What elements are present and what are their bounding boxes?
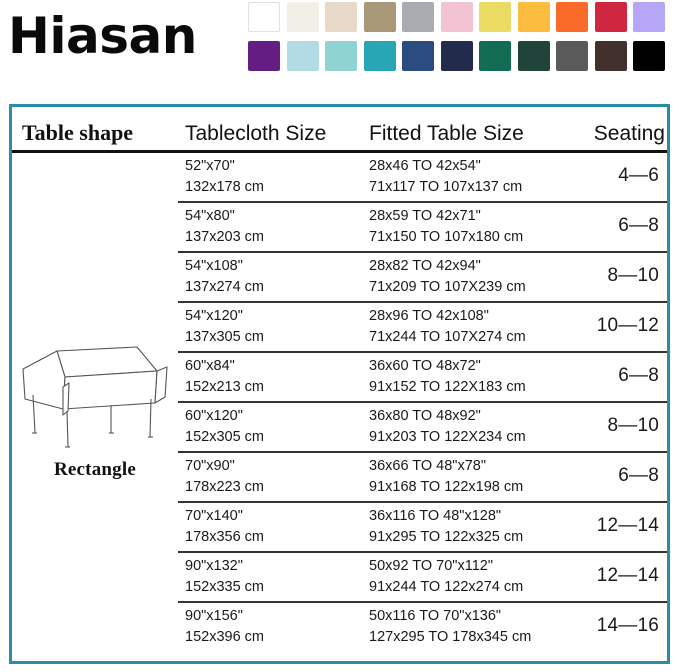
cell-tablecloth-inches: 60"x84" bbox=[185, 356, 264, 377]
cell-seating: 8—10 bbox=[607, 415, 659, 437]
cell-fitted-inches: 28x59 TO 42x71" bbox=[369, 206, 523, 227]
table-row: 60"x84"152x213 cm36x60 TO 48x72"91x152 T… bbox=[178, 353, 667, 403]
color-swatch-gold[interactable] bbox=[518, 2, 550, 32]
cell-fitted-cm: 71x117 TO 107x137 cm bbox=[369, 177, 522, 198]
cell-tablecloth-cm: 137x274 cm bbox=[185, 277, 264, 298]
cell-tablecloth-size: 90"x156"152x396 cm bbox=[185, 606, 264, 648]
cell-fitted-cm: 127x295 TO 178x345 cm bbox=[369, 627, 531, 648]
cell-tablecloth-size: 90"x132"152x335 cm bbox=[185, 556, 264, 598]
color-swatch-coffee-brown[interactable] bbox=[595, 41, 627, 71]
cell-seating: 4—6 bbox=[618, 165, 659, 187]
table-shape-cell: Rectangle bbox=[12, 153, 178, 664]
cell-tablecloth-size: 52"x70"132x178 cm bbox=[185, 156, 264, 198]
cell-tablecloth-cm: 178x223 cm bbox=[185, 477, 264, 498]
color-swatch-beige[interactable] bbox=[325, 2, 357, 32]
cell-fitted-cm: 91x203 TO 122X234 cm bbox=[369, 427, 526, 448]
color-swatch-navy[interactable] bbox=[441, 41, 473, 71]
cell-seating: 6—8 bbox=[618, 465, 659, 487]
cell-tablecloth-inches: 54"x120" bbox=[185, 306, 264, 327]
table-row: 60"x120"152x305 cm36x80 TO 48x92"91x203 … bbox=[178, 403, 667, 453]
cell-tablecloth-cm: 152x305 cm bbox=[185, 427, 264, 448]
cell-fitted-cm: 71x244 TO 107X274 cm bbox=[369, 327, 526, 348]
cell-fitted-inches: 50x92 TO 70"x112" bbox=[369, 556, 523, 577]
table-row: 90"x132"152x335 cm50x92 TO 70"x112"91x24… bbox=[178, 553, 667, 603]
cell-tablecloth-cm: 178x356 cm bbox=[185, 527, 264, 548]
color-swatch-white[interactable] bbox=[248, 2, 280, 32]
color-swatch-black[interactable] bbox=[633, 41, 665, 71]
cell-tablecloth-size: 70"x140"178x356 cm bbox=[185, 506, 264, 548]
cell-tablecloth-inches: 70"x90" bbox=[185, 456, 264, 477]
cell-tablecloth-inches: 54"x108" bbox=[185, 256, 264, 277]
color-swatch-light-yellow[interactable] bbox=[479, 2, 511, 32]
cell-tablecloth-size: 60"x84"152x213 cm bbox=[185, 356, 264, 398]
color-swatch-aqua[interactable] bbox=[325, 41, 357, 71]
cell-fitted-cm: 71x209 TO 107X239 cm bbox=[369, 277, 526, 298]
column-header-table-shape: Table shape bbox=[22, 120, 133, 146]
cell-tablecloth-size: 54"x120"137x305 cm bbox=[185, 306, 264, 348]
table-row: 70"x140"178x356 cm36x116 TO 48"x128"91x2… bbox=[178, 503, 667, 553]
table-row: 70"x90"178x223 cm36x66 TO 48"x78"91x168 … bbox=[178, 453, 667, 503]
cell-fitted-size: 50x116 TO 70"x136"127x295 TO 178x345 cm bbox=[369, 606, 531, 648]
column-header-seating: Seating bbox=[594, 122, 665, 146]
cell-tablecloth-cm: 152x335 cm bbox=[185, 577, 264, 598]
color-swatch-blush-pink[interactable] bbox=[441, 2, 473, 32]
cell-fitted-inches: 36x60 TO 48x72" bbox=[369, 356, 526, 377]
color-swatch-row-1 bbox=[248, 2, 678, 32]
cell-tablecloth-cm: 152x396 cm bbox=[185, 627, 264, 648]
cell-fitted-cm: 91x168 TO 122x198 cm bbox=[369, 477, 523, 498]
table-row: 90"x156"152x396 cm50x116 TO 70"x136"127x… bbox=[178, 603, 667, 653]
color-swatch-denim-blue[interactable] bbox=[402, 41, 434, 71]
size-table: Table shape Tablecloth Size Fitted Table… bbox=[12, 107, 667, 661]
color-swatch-ivory[interactable] bbox=[287, 2, 319, 32]
cell-fitted-inches: 50x116 TO 70"x136" bbox=[369, 606, 531, 627]
size-chart-page: Hiasan Table shape Tablecloth Size Fitte… bbox=[0, 0, 679, 672]
color-swatch-emerald[interactable] bbox=[479, 41, 511, 71]
cell-seating: 8—10 bbox=[607, 265, 659, 287]
cell-tablecloth-cm: 137x305 cm bbox=[185, 327, 264, 348]
cell-tablecloth-cm: 152x213 cm bbox=[185, 377, 264, 398]
column-header-tablecloth-size: Tablecloth Size bbox=[185, 122, 326, 146]
brand-logo: Hiasan bbox=[8, 6, 197, 66]
color-swatch-row-2 bbox=[248, 41, 678, 71]
brand-header: Hiasan bbox=[0, 0, 679, 92]
cell-fitted-size: 50x92 TO 70"x112"91x244 TO 122x274 cm bbox=[369, 556, 523, 598]
cell-tablecloth-inches: 54"x80" bbox=[185, 206, 264, 227]
cell-fitted-size: 36x80 TO 48x92"91x203 TO 122X234 cm bbox=[369, 406, 526, 448]
column-header-fitted-size: Fitted Table Size bbox=[369, 122, 524, 146]
cell-tablecloth-size: 54"x80"137x203 cm bbox=[185, 206, 264, 248]
cell-tablecloth-size: 60"x120"152x305 cm bbox=[185, 406, 264, 448]
cell-tablecloth-inches: 60"x120" bbox=[185, 406, 264, 427]
cell-fitted-size: 36x116 TO 48"x128"91x295 TO 122x325 cm bbox=[369, 506, 523, 548]
cell-tablecloth-cm: 132x178 cm bbox=[185, 177, 264, 198]
color-swatch-lavender[interactable] bbox=[633, 2, 665, 32]
size-chart-frame: Table shape Tablecloth Size Fitted Table… bbox=[9, 104, 670, 664]
cell-tablecloth-size: 70"x90"178x223 cm bbox=[185, 456, 264, 498]
cell-tablecloth-inches: 70"x140" bbox=[185, 506, 264, 527]
cell-fitted-cm: 91x152 TO 122X183 cm bbox=[369, 377, 526, 398]
cell-seating: 14—16 bbox=[597, 615, 659, 637]
table-row: 54"x80"137x203 cm28x59 TO 42x71"71x150 T… bbox=[178, 203, 667, 253]
table-row: 54"x120"137x305 cm28x96 TO 42x108"71x244… bbox=[178, 303, 667, 353]
cell-fitted-cm: 91x295 TO 122x325 cm bbox=[369, 527, 523, 548]
cell-fitted-inches: 36x116 TO 48"x128" bbox=[369, 506, 523, 527]
color-swatch-dark-gray[interactable] bbox=[556, 41, 588, 71]
cell-tablecloth-cm: 137x203 cm bbox=[185, 227, 264, 248]
cell-seating: 6—8 bbox=[618, 215, 659, 237]
cell-tablecloth-inches: 90"x132" bbox=[185, 556, 264, 577]
color-swatch-red[interactable] bbox=[595, 2, 627, 32]
cell-fitted-cm: 71x150 TO 107x180 cm bbox=[369, 227, 523, 248]
cell-seating: 12—14 bbox=[597, 515, 659, 537]
color-swatch-orange[interactable] bbox=[556, 2, 588, 32]
cell-fitted-inches: 36x80 TO 48x92" bbox=[369, 406, 526, 427]
table-shape-label: Rectangle bbox=[54, 459, 136, 481]
color-swatch-silver-gray[interactable] bbox=[402, 2, 434, 32]
color-swatch-purple[interactable] bbox=[248, 41, 280, 71]
cell-seating: 6—8 bbox=[618, 365, 659, 387]
cell-tablecloth-size: 54"x108"137x274 cm bbox=[185, 256, 264, 298]
rectangle-table-icon bbox=[19, 337, 171, 455]
cell-fitted-inches: 28x82 TO 42x94" bbox=[369, 256, 526, 277]
cell-fitted-size: 36x66 TO 48"x78"91x168 TO 122x198 cm bbox=[369, 456, 523, 498]
color-swatch-taupe[interactable] bbox=[364, 2, 396, 32]
cell-fitted-size: 36x60 TO 48x72"91x152 TO 122X183 cm bbox=[369, 356, 526, 398]
color-swatch-teal[interactable] bbox=[364, 41, 396, 71]
color-swatch-grid bbox=[248, 2, 678, 80]
cell-fitted-size: 28x59 TO 42x71"71x150 TO 107x180 cm bbox=[369, 206, 523, 248]
table-row: 52"x70"132x178 cm28x46 TO 42x54"71x117 T… bbox=[178, 153, 667, 203]
cell-tablecloth-inches: 90"x156" bbox=[185, 606, 264, 627]
cell-fitted-inches: 36x66 TO 48"x78" bbox=[369, 456, 523, 477]
color-swatch-hunter-green[interactable] bbox=[518, 41, 550, 71]
color-swatch-light-blue[interactable] bbox=[287, 41, 319, 71]
cell-fitted-size: 28x82 TO 42x94"71x209 TO 107X239 cm bbox=[369, 256, 526, 298]
table-header-row: Table shape Tablecloth Size Fitted Table… bbox=[12, 107, 667, 153]
cell-fitted-size: 28x46 TO 42x54"71x117 TO 107x137 cm bbox=[369, 156, 522, 198]
cell-fitted-inches: 28x46 TO 42x54" bbox=[369, 156, 522, 177]
cell-fitted-size: 28x96 TO 42x108"71x244 TO 107X274 cm bbox=[369, 306, 526, 348]
cell-seating: 10—12 bbox=[597, 315, 659, 337]
cell-seating: 12—14 bbox=[597, 565, 659, 587]
cell-tablecloth-inches: 52"x70" bbox=[185, 156, 264, 177]
cell-fitted-cm: 91x244 TO 122x274 cm bbox=[369, 577, 523, 598]
table-row: 54"x108"137x274 cm28x82 TO 42x94"71x209 … bbox=[178, 253, 667, 303]
cell-fitted-inches: 28x96 TO 42x108" bbox=[369, 306, 526, 327]
